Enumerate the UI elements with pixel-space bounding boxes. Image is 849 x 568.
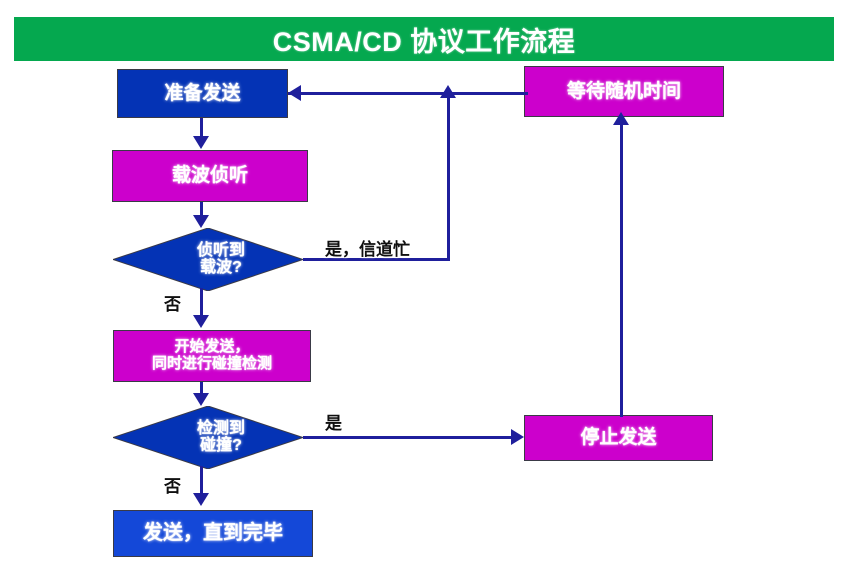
edge-label-no-carrier: 否 bbox=[164, 290, 181, 315]
edge-label-yes-channel-busy: 是，信道忙 bbox=[325, 235, 410, 260]
diamond-shape-collision bbox=[113, 406, 303, 469]
node-prepare-send[interactable]: 准备发送 bbox=[117, 69, 288, 118]
edge-no-collision-arrow bbox=[193, 493, 209, 506]
page-title: CSMA/CD 协议工作流程 bbox=[273, 20, 576, 59]
node-start-send-line1: 开始发送， bbox=[174, 339, 249, 356]
edge-label-no-collision: 否 bbox=[164, 472, 181, 497]
node-start-send-line2: 同时进行碰撞检测 bbox=[152, 356, 272, 373]
node-wait-random-time[interactable]: 等待随机时间 bbox=[524, 66, 724, 117]
edge-stop-to-wait-line bbox=[620, 117, 623, 417]
edge-wait-to-prepare-line bbox=[288, 92, 528, 95]
node-carrier-sense[interactable]: 载波侦听 bbox=[112, 150, 308, 202]
node-wait-random-time-label: 等待随机时间 bbox=[567, 81, 681, 102]
edge-prepare-to-sense-line bbox=[200, 118, 203, 137]
edge-wait-to-prepare-arrow bbox=[288, 85, 301, 101]
title-banner: CSMA/CD 协议工作流程 bbox=[14, 17, 834, 61]
node-carrier-detected-decision[interactable]: 侦听到 载波? bbox=[113, 228, 303, 291]
edge-yes-collision-line bbox=[303, 436, 516, 439]
node-stop-send-label: 停止发送 bbox=[580, 427, 656, 448]
edge-yes-collision-arrow bbox=[511, 429, 524, 445]
edge-no-carrier-arrow bbox=[193, 315, 209, 328]
node-send-until-complete[interactable]: 发送，直到完毕 bbox=[113, 510, 313, 557]
edge-prepare-to-sense-arrow bbox=[193, 136, 209, 149]
node-carrier-sense-label: 载波侦听 bbox=[172, 165, 248, 186]
edge-label-yes-collision: 是 bbox=[325, 409, 342, 434]
edge-busy-vertical-up bbox=[447, 93, 450, 260]
node-stop-send[interactable]: 停止发送 bbox=[524, 415, 713, 461]
diamond-shape-carrier bbox=[113, 228, 303, 291]
edge-sense-to-decision-arrow bbox=[193, 215, 209, 228]
node-prepare-send-label: 准备发送 bbox=[164, 83, 240, 104]
edge-sense-to-decision-line bbox=[200, 202, 203, 216]
node-start-send-with-detection[interactable]: 开始发送， 同时进行碰撞检测 bbox=[113, 330, 311, 382]
node-collision-detected-decision[interactable]: 检测到 碰撞? bbox=[113, 406, 303, 469]
edge-stop-to-wait-arrow bbox=[613, 112, 629, 125]
slide-canvas: CSMA/CD 协议工作流程 准备发送 载波侦听 侦听到 载波? 开始发送， 同… bbox=[0, 0, 849, 568]
node-send-until-complete-label: 发送，直到完毕 bbox=[143, 522, 283, 544]
edge-start-to-collision-arrow bbox=[193, 393, 209, 406]
edge-no-collision-line bbox=[200, 466, 203, 494]
edge-no-carrier-line bbox=[200, 288, 203, 317]
